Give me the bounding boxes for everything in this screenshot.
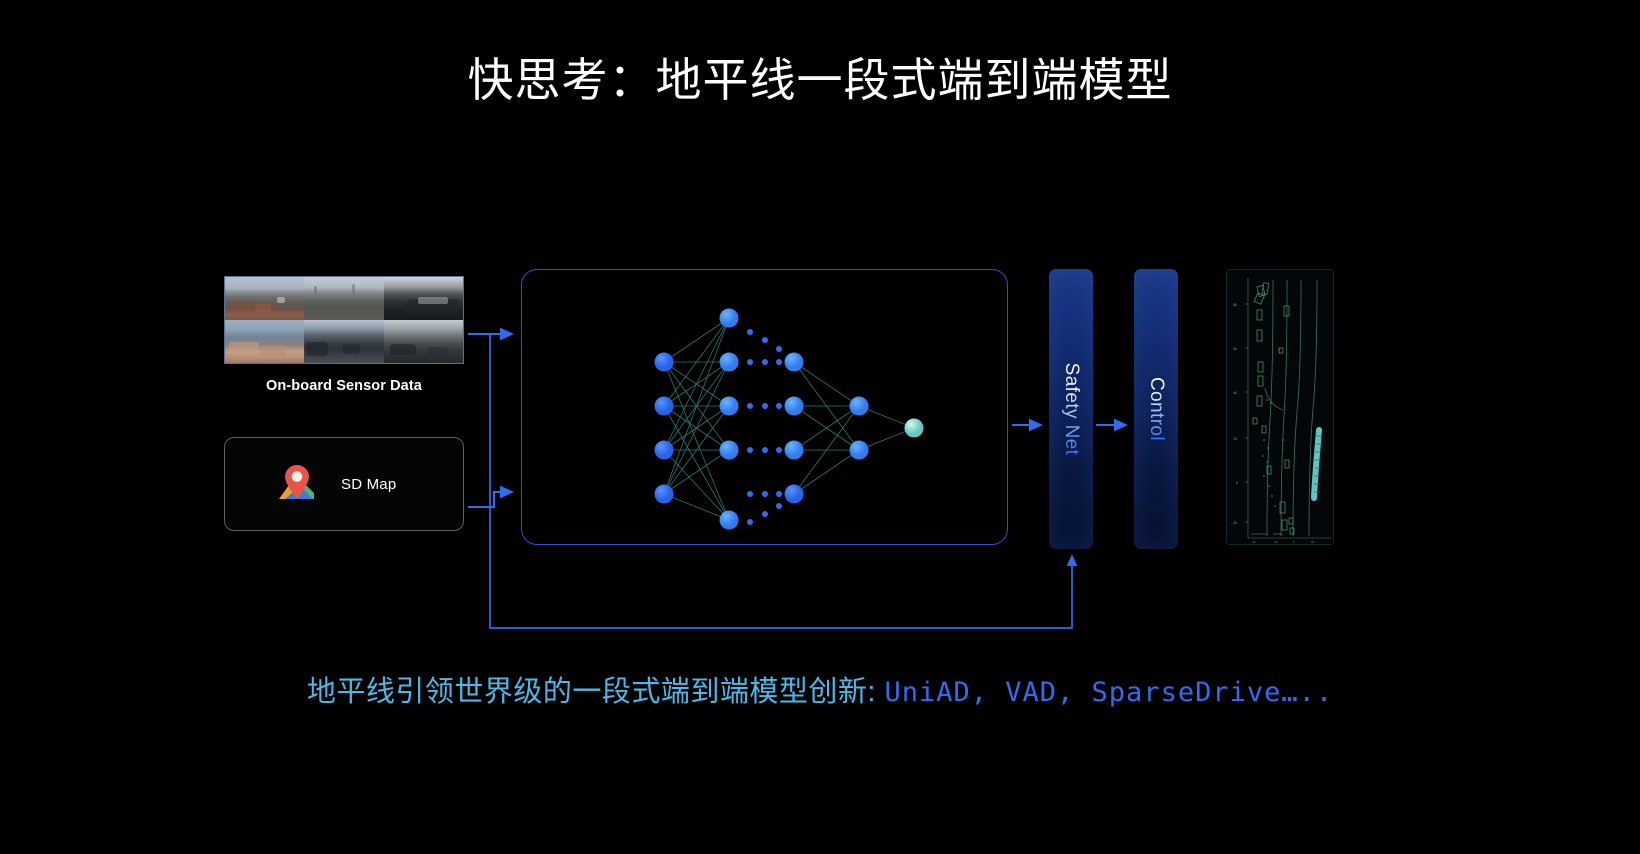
caption-english: UniAD, VAD, SparseDrive….. [884,677,1333,708]
camera-panel-front [304,277,383,320]
camera-panel-rear [304,320,383,363]
control-label: Control [1145,377,1167,441]
svg-text:-20: -20 [1231,521,1237,525]
google-maps-pin-icon [275,463,319,505]
nn-output-node [905,419,924,438]
svg-text:80: 80 [1233,303,1237,307]
nn-node [655,353,674,372]
svg-text:0: 0 [1236,481,1238,485]
svg-text:20: 20 [1233,437,1237,441]
safety-net-pillar[interactable]: Safety Net [1049,269,1093,549]
camera-panel-rear-left [225,320,304,363]
nn-node [720,309,739,328]
nn-node [850,441,869,460]
nn-nodes [655,309,924,530]
svg-text:60: 60 [1233,347,1237,351]
sensor-caption: On-board Sensor Data [224,378,464,394]
sd-map-card[interactable]: SD Map [224,437,464,531]
nn-node [785,353,804,372]
nn-node [785,441,804,460]
nn-node [720,511,739,530]
nn-node [720,441,739,460]
svg-text:-20: -20 [1273,540,1278,544]
nn-node [785,485,804,504]
nn-node [850,397,869,416]
nn-node [720,397,739,416]
nn-node [655,485,674,504]
nn-node [785,397,804,416]
page-title: 快思考：地平线一段式端到端模型 [0,52,1640,110]
safety-net-label: Safety Net [1060,363,1082,456]
slide-caption: 地平线引领世界级的一段式端到端模型创新: UniAD, VAD, SparseD… [0,668,1640,710]
sd-map-label: SD Map [341,476,396,493]
camera-panel-front-right [384,277,463,320]
nn-node [655,441,674,460]
arrow-sdmap-to-model [468,492,512,507]
caption-chinese: 地平线引领世界级的一段式端到端模型创新: [307,676,876,708]
nn-node [720,353,739,372]
sensor-camera-grid [224,276,464,364]
svg-text:20: 20 [1311,540,1315,544]
bev-visualization: 80 60 40 20 0 -20 [1227,270,1334,545]
control-pillar[interactable]: Control [1134,269,1178,549]
svg-text:-40: -40 [1251,540,1256,544]
camera-panel-front-left [225,277,304,320]
sensor-input-block: On-board Sensor Data [224,276,464,394]
slide-canvas: 快思考：地平线一段式端到端模型 [0,0,1640,854]
nn-ellipsis-dots [747,329,782,525]
camera-panel-rear-right [384,320,463,363]
nn-node [655,397,674,416]
neural-network-diagram [522,270,1009,546]
end-to-end-model-box [521,269,1008,545]
svg-text:40: 40 [1233,391,1237,395]
bev-output-panel: 80 60 40 20 0 -20 [1226,269,1334,545]
